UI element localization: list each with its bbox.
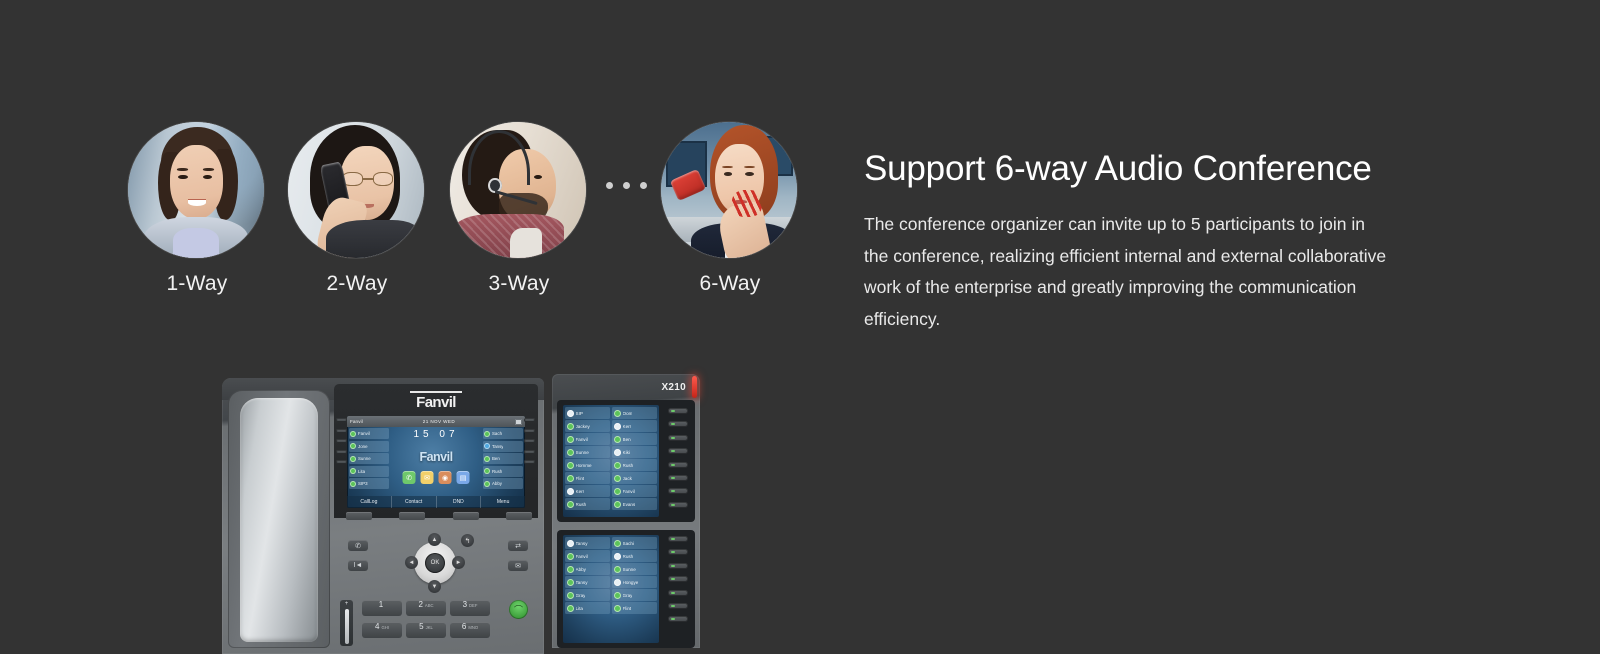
status-dot-icon: [350, 456, 356, 462]
transfer-key[interactable]: ⇄: [508, 540, 528, 551]
keypad-key-6[interactable]: 6MNO: [450, 622, 490, 638]
status-dot-icon: [567, 410, 574, 417]
back-icon[interactable]: ↰: [461, 534, 474, 547]
expansion-lcd-bottom[interactable]: Tansy Sachi Fanvil Rush Abby Sunne Tansy…: [563, 535, 659, 643]
status-dot-icon: [350, 431, 356, 437]
status-dot-icon: [614, 592, 621, 599]
hardware-softkey-3[interactable]: [453, 512, 479, 520]
message-waiting-led: [692, 376, 697, 398]
status-dot-icon: [350, 443, 356, 449]
line-key-button[interactable]: [524, 429, 535, 433]
expansion-key[interactable]: Gray: [565, 589, 610, 601]
volume-plus-label: +: [345, 601, 349, 608]
hardware-softkey-2[interactable]: [399, 512, 425, 520]
volume-slider[interactable]: +: [340, 600, 353, 646]
line-key-button[interactable]: [336, 460, 347, 464]
phone-handset[interactable]: [240, 398, 318, 642]
expansion-hw-key[interactable]: [668, 536, 688, 542]
expansion-hw-key[interactable]: [668, 488, 688, 494]
lcd-line-key[interactable]: Abby: [483, 478, 523, 489]
line-key-button[interactable]: [524, 418, 535, 422]
expansion-lcd-top[interactable]: SIP Oom Jackey Kerr Fanvil Ben Sunne Kik…: [563, 405, 659, 517]
expansion-hw-key[interactable]: [668, 462, 688, 468]
status-dot-icon: [484, 481, 490, 487]
status-dot-icon: [567, 540, 574, 547]
participant-6-way[interactable]: 6-Way: [661, 122, 799, 296]
volume-track: [345, 609, 349, 644]
woman-glasses-phone-avatar: [288, 122, 424, 258]
lcd-date-label: 21 NOV WED: [423, 419, 455, 424]
expansion-hw-key[interactable]: [668, 563, 688, 569]
expansion-key[interactable]: Oom: [612, 407, 657, 419]
keypad-key-5[interactable]: 5JKL: [406, 622, 446, 638]
line-key-button[interactable]: [336, 418, 347, 422]
participant-2-way[interactable]: 2-Way: [288, 122, 426, 296]
expansion-key[interactable]: Evans: [612, 498, 657, 510]
lcd-status-bar: Fanvil 21 NOV WED: [347, 416, 525, 427]
voicemail-app-icon[interactable]: ◉: [439, 471, 452, 484]
expansion-hw-key[interactable]: [668, 590, 688, 596]
expansion-key[interactable]: Ben: [612, 433, 657, 445]
status-dot-icon: [614, 605, 621, 612]
headset-icon[interactable]: ⌒: [509, 600, 528, 619]
lcd-line-key[interactable]: Lita: [349, 466, 389, 477]
expansion-key[interactable]: Kerr: [565, 485, 610, 497]
participant-1-way[interactable]: 1-Way: [128, 122, 266, 296]
status-dot-icon: [567, 553, 574, 560]
feature-description: The conference organizer can invite up t…: [864, 209, 1389, 335]
hardware-softkey-4[interactable]: [506, 512, 532, 520]
expansion-key[interactable]: Flint: [565, 472, 610, 484]
expansion-hw-key[interactable]: [668, 502, 688, 508]
status-dot-icon: [567, 592, 574, 599]
status-dot-icon: [567, 462, 574, 469]
status-dot-icon: [484, 468, 490, 474]
expansion-hardware-keys-top: [668, 408, 690, 515]
lcd-left-line-key-list: Fanvil Jone Sunne Lita SIP3: [349, 428, 389, 491]
settings-app-icon[interactable]: ▤: [457, 471, 470, 484]
status-dot-icon: [567, 605, 574, 612]
keypad-key-4[interactable]: 4GHI: [362, 622, 402, 638]
status-dot-icon: [614, 488, 621, 495]
message-app-icon[interactable]: ✉: [421, 471, 434, 484]
status-dot-icon: [614, 553, 621, 560]
nav-up-icon[interactable]: ▲: [428, 533, 441, 546]
expansion-hw-key[interactable]: [668, 448, 688, 454]
expansion-key[interactable]: Sunne: [612, 563, 657, 575]
left-line-key-buttons: [336, 418, 348, 471]
expansion-hardware-keys-bottom: [668, 536, 690, 630]
brand-text: Fanvil: [416, 394, 456, 411]
line-key-button[interactable]: [336, 439, 347, 443]
expansion-key[interactable]: Sunne: [565, 446, 610, 458]
lcd-line-key[interactable]: Sunne: [349, 453, 389, 464]
lcd-line-key[interactable]: SIP3: [349, 478, 389, 489]
softkey-contact[interactable]: Contact: [392, 496, 437, 508]
expansion-key[interactable]: Tansy: [565, 537, 610, 549]
page-title: Support 6-way Audio Conference: [864, 148, 1424, 189]
expansion-module: X210 SIP Oom Jackey Kerr Fanvil Ben Sunn…: [552, 374, 700, 648]
status-dot-icon: [614, 579, 621, 586]
status-dot-icon: [484, 443, 490, 449]
fanvil-x210-phone-image: Fanvil Fanvil 21 NOV WED 15 07 Fanvil ✆ …: [222, 374, 700, 654]
expansion-key[interactable]: Hongye: [612, 576, 657, 588]
nav-right-icon[interactable]: ►: [452, 556, 465, 569]
navigation-dpad: OK ▲ ▼ ◄ ► ↰: [406, 534, 464, 592]
ellipsis-dot: [606, 182, 613, 189]
voicemail-key[interactable]: ✉: [508, 560, 528, 571]
hardware-softkey-1[interactable]: [346, 512, 372, 520]
lcd-app-icon-row: ✆ ✉ ◉ ▤: [403, 471, 470, 484]
phone-chassis: Fanvil Fanvil 21 NOV WED 15 07 Fanvil ✆ …: [222, 378, 544, 654]
status-dot-icon: [614, 566, 621, 573]
dial-app-icon[interactable]: ✆: [403, 471, 416, 484]
status-dot-icon: [350, 481, 356, 487]
expansion-key[interactable]: Fanvil: [565, 550, 610, 562]
phone-lcd-screen[interactable]: Fanvil 21 NOV WED 15 07 Fanvil ✆ ✉ ◉ ▤ F…: [347, 416, 525, 508]
expansion-key[interactable]: Jack: [612, 472, 657, 484]
status-dot-icon: [614, 540, 621, 547]
line-key-button[interactable]: [336, 429, 347, 433]
keypad-key-1[interactable]: 1: [362, 600, 402, 616]
line-key-button[interactable]: [524, 439, 535, 443]
expansion-key[interactable]: Kerr: [612, 420, 657, 432]
expansion-key[interactable]: Jackey: [565, 420, 610, 432]
expansion-hw-key[interactable]: [668, 549, 688, 555]
status-dot-icon: [614, 436, 621, 443]
phone-display-bezel: Fanvil Fanvil 21 NOV WED 15 07 Fanvil ✆ …: [334, 384, 538, 518]
softkey-menu[interactable]: Menu: [481, 496, 525, 508]
nav-left-icon[interactable]: ◄: [405, 556, 418, 569]
expansion-key[interactable]: Fanvil: [612, 485, 657, 497]
keypad-key-2[interactable]: 2ABC: [406, 600, 446, 616]
expansion-key[interactable]: Rush: [612, 459, 657, 471]
status-dot-icon: [567, 501, 574, 508]
participant-label: 1-Way: [128, 272, 266, 296]
line-key-button[interactable]: [336, 450, 347, 454]
lcd-line-key[interactable]: Ben: [483, 453, 523, 464]
network-icon: [515, 419, 522, 425]
lcd-account-label: Fanvil: [350, 419, 363, 424]
lcd-line-key[interactable]: Rush: [483, 466, 523, 477]
ellipsis-indicator: [606, 182, 647, 189]
dial-keypad: 1 2ABC 3DEF 4GHI 5JKL 6MNO: [362, 600, 494, 638]
hold-key[interactable]: I◄: [348, 560, 368, 571]
status-dot-icon: [567, 579, 574, 586]
expansion-key[interactable]: Tansy: [565, 576, 610, 588]
right-line-key-buttons: [524, 418, 536, 471]
ellipsis-dot: [640, 182, 647, 189]
status-dot-icon: [614, 462, 621, 469]
status-dot-icon: [484, 431, 490, 437]
phone-model-label: X210: [661, 382, 686, 393]
page-root: 1-Way 2-Way: [0, 0, 1600, 648]
expansion-hw-key[interactable]: [668, 421, 688, 427]
status-dot-icon: [350, 468, 356, 474]
status-dot-icon: [614, 423, 621, 430]
softkey-dnd[interactable]: DND: [437, 496, 482, 508]
line-key-button[interactable]: [524, 460, 535, 464]
lcd-line-key[interactable]: Jone: [349, 441, 389, 452]
lcd-softkey-bar: CallLog Contact DND Menu: [347, 496, 525, 508]
status-dot-icon: [614, 475, 621, 482]
expansion-key[interactable]: Flint: [612, 602, 657, 614]
navigation-area: ✆ I◄ ⇄ ✉ OK ▲ ▼ ◄ ► ↰: [334, 530, 540, 594]
expansion-key[interactable]: Rush: [612, 550, 657, 562]
expansion-key[interactable]: SIP: [565, 407, 610, 419]
expansion-hw-key[interactable]: [668, 475, 688, 481]
status-dot-icon: [567, 423, 574, 430]
status-dot-icon: [567, 449, 574, 456]
feature-copy-block: Support 6-way Audio Conference The confe…: [864, 148, 1424, 335]
participant-label: 2-Way: [288, 272, 426, 296]
softkey-calllog[interactable]: CallLog: [347, 496, 392, 508]
status-dot-icon: [484, 456, 490, 462]
ok-button[interactable]: OK: [425, 553, 445, 573]
fanvil-brand-logo: Fanvil: [334, 391, 538, 411]
expansion-key[interactable]: Sachi: [612, 537, 657, 549]
expansion-key[interactable]: Rush: [565, 498, 610, 510]
handset-cradle: [228, 390, 330, 648]
expansion-hw-key[interactable]: [668, 408, 688, 414]
status-dot-icon: [567, 488, 574, 495]
expansion-panel-bottom: Tansy Sachi Fanvil Rush Abby Sunne Tansy…: [557, 530, 695, 648]
participant-label: 3-Way: [450, 272, 588, 296]
status-dot-icon: [614, 410, 621, 417]
nav-down-icon[interactable]: ▼: [428, 580, 441, 593]
expansion-key[interactable]: Kiki: [612, 446, 657, 458]
expansion-panel-top: SIP Oom Jackey Kerr Fanvil Ben Sunne Kik…: [557, 400, 695, 522]
conference-participants-row: 1-Way 2-Way: [128, 122, 828, 302]
keypad-key-3[interactable]: 3DEF: [450, 600, 490, 616]
expansion-key[interactable]: Fanvil: [565, 433, 610, 445]
participant-label: 6-Way: [661, 272, 799, 296]
status-dot-icon: [567, 436, 574, 443]
expansion-key[interactable]: Lita: [565, 602, 610, 614]
lcd-line-key[interactable]: Sach: [483, 428, 523, 439]
man-headset-avatar: [450, 122, 586, 258]
status-dot-icon: [567, 475, 574, 482]
expansion-key[interactable]: Homme: [565, 459, 610, 471]
expansion-hw-key[interactable]: [668, 576, 688, 582]
mute-key[interactable]: ✆: [348, 540, 368, 551]
expansion-hw-key[interactable]: [668, 616, 688, 622]
lcd-line-key[interactable]: Tansy: [483, 441, 523, 452]
hardware-softkey-row: [346, 512, 532, 520]
status-dot-icon: [567, 566, 574, 573]
lcd-right-line-key-list: Sach Tansy Ben Rush Abby: [483, 428, 523, 491]
status-dot-icon: [614, 449, 621, 456]
expansion-hw-key[interactable]: [668, 435, 688, 441]
woman-smiling-avatar: [128, 122, 264, 258]
expansion-key[interactable]: Gray: [612, 589, 657, 601]
status-dot-icon: [614, 501, 621, 508]
lcd-line-key[interactable]: Fanvil: [349, 428, 389, 439]
expansion-key[interactable]: Abby: [565, 563, 610, 575]
woman-red-handset-avatar: [661, 122, 797, 258]
participant-3-way[interactable]: 3-Way: [450, 122, 588, 296]
ellipsis-dot: [623, 182, 630, 189]
expansion-hw-key[interactable]: [668, 603, 688, 609]
line-key-button[interactable]: [524, 450, 535, 454]
